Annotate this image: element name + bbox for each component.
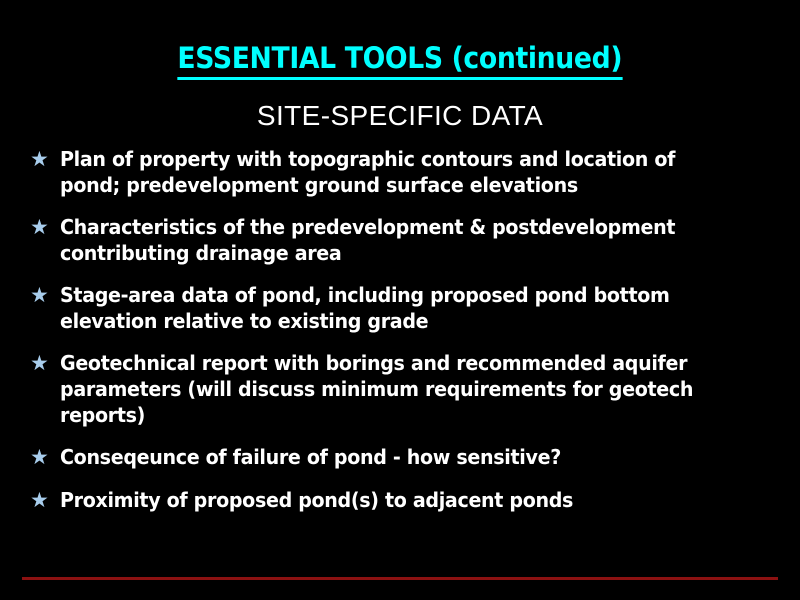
footer-divider <box>22 577 778 580</box>
star-bullet-icon: ★ <box>30 350 60 377</box>
list-item: ★ Stage-area data of pond, including pro… <box>30 282 775 334</box>
list-item-label: Conseqeunce of failure of pond - how sen… <box>60 444 725 470</box>
list-item-label: Characteristics of the predevelopment & … <box>60 214 725 266</box>
slide-title-container: ESSENTIAL TOOLS (continued) <box>0 41 800 80</box>
list-item-label: Plan of property with topographic contou… <box>60 146 725 198</box>
list-item: ★ Conseqeunce of failure of pond - how s… <box>30 444 775 471</box>
presentation-slide: ESSENTIAL TOOLS (continued) SITE-SPECIFI… <box>0 0 800 600</box>
star-bullet-icon: ★ <box>30 146 60 173</box>
star-bullet-icon: ★ <box>30 487 60 514</box>
list-item-label: Stage-area data of pond, including propo… <box>60 282 725 334</box>
slide-title: ESSENTIAL TOOLS (continued) <box>178 41 623 80</box>
star-bullet-icon: ★ <box>30 444 60 471</box>
list-item: ★ Plan of property with topographic cont… <box>30 146 775 198</box>
star-bullet-icon: ★ <box>30 282 60 309</box>
bullet-list: ★ Plan of property with topographic cont… <box>30 146 775 514</box>
star-bullet-icon: ★ <box>30 214 60 241</box>
list-item: ★ Characteristics of the predevelopment … <box>30 214 775 266</box>
slide-subtitle-container: SITE-SPECIFIC DATA <box>0 100 800 132</box>
slide-subtitle: SITE-SPECIFIC DATA <box>257 100 543 132</box>
list-item: ★ Geotechnical report with borings and r… <box>30 350 775 428</box>
list-item: ★ Proximity of proposed pond(s) to adjac… <box>30 487 775 514</box>
list-item-label: Geotechnical report with borings and rec… <box>60 350 725 428</box>
list-item-label: Proximity of proposed pond(s) to adjacen… <box>60 487 725 513</box>
